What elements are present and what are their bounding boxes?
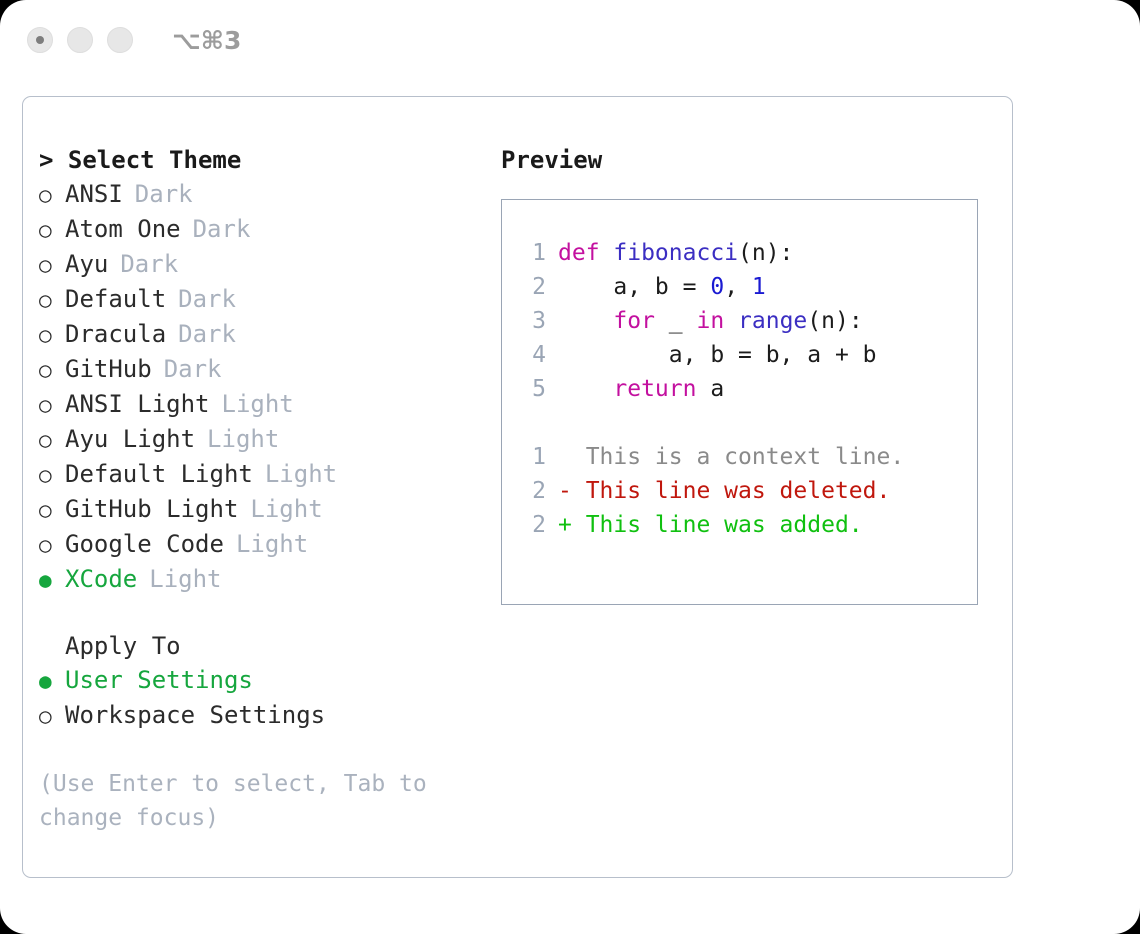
- preview-column: Preview 1def fibonacci(n):2 a, b = 0, 13…: [501, 143, 1001, 605]
- theme-option-default[interactable]: ○DefaultDark: [39, 282, 489, 317]
- theme-option-tag: Dark: [178, 317, 236, 351]
- theme-option-xcode[interactable]: ●XCodeLight: [39, 562, 489, 597]
- window-dot-active[interactable]: [27, 27, 53, 53]
- theme-option-label: Default: [65, 282, 166, 316]
- code-token-kw: in: [696, 308, 724, 334]
- line-number: 2: [516, 508, 546, 542]
- apply-to-heading: Apply To: [39, 629, 489, 663]
- theme-option-label: Dracula: [65, 317, 166, 351]
- code-sample: 1def fibonacci(n):2 a, b = 0, 13 for _ i…: [516, 236, 977, 406]
- line-number: 2: [516, 270, 546, 304]
- diff-text: + This line was added.: [558, 508, 863, 542]
- code-text: for _ in range(n):: [558, 304, 863, 338]
- line-number: 2: [516, 474, 546, 508]
- code-token-fn: fibonacci: [613, 240, 738, 266]
- theme-option-ayu[interactable]: ○AyuDark: [39, 247, 489, 282]
- select-theme-heading: > Select Theme: [39, 143, 489, 177]
- diff-text: This is a context line.: [558, 440, 904, 474]
- theme-option-label: GitHub: [65, 352, 152, 386]
- code-line: 3 for _ in range(n):: [516, 304, 977, 338]
- theme-option-tag: Light: [149, 562, 221, 596]
- radio-unselected-icon: ○: [39, 423, 65, 457]
- code-text: a, b = b, a + b: [558, 338, 877, 372]
- code-token-plain: (n):: [807, 308, 862, 334]
- code-token-plain: [724, 308, 738, 334]
- diff-line-del: 2- This line was deleted.: [516, 474, 977, 508]
- keyboard-shortcut-label: ⌥⌘3: [172, 26, 241, 55]
- radio-unselected-icon: ○: [39, 213, 65, 247]
- radio-unselected-icon: ○: [39, 353, 65, 387]
- theme-option-tag: Light: [250, 492, 322, 526]
- code-token-kw: for: [613, 308, 655, 334]
- code-token-num: 1: [752, 274, 766, 300]
- theme-option-tag: Light: [222, 387, 294, 421]
- code-token-plain: a: [696, 376, 724, 402]
- title-bar: ⌥⌘3: [0, 0, 1140, 80]
- code-token-num: 0: [710, 274, 724, 300]
- code-line: 5 return a: [516, 372, 977, 406]
- radio-unselected-icon: ○: [39, 528, 65, 562]
- radio-unselected-icon: ○: [39, 248, 65, 282]
- theme-option-tag: Dark: [193, 212, 251, 246]
- code-token-plain: (n):: [738, 240, 793, 266]
- theme-option-label: ANSI: [65, 177, 123, 211]
- theme-option-tag: Dark: [135, 177, 193, 211]
- spacer: [39, 597, 489, 629]
- line-number: 4: [516, 338, 546, 372]
- keyboard-hint: (Use Enter to select, Tab to change focu…: [39, 767, 439, 835]
- main-panel: > Select Theme ○ANSIDark○Atom OneDark○Ay…: [22, 96, 1013, 878]
- theme-option-label: Atom One: [65, 212, 181, 246]
- code-token-plain: _: [655, 308, 697, 334]
- theme-option-google-code[interactable]: ○Google CodeLight: [39, 527, 489, 562]
- code-token-kw: def: [558, 240, 613, 266]
- theme-option-ansi-light[interactable]: ○ANSI LightLight: [39, 387, 489, 422]
- radio-unselected-icon: ○: [39, 493, 65, 527]
- theme-picker-column: > Select Theme ○ANSIDark○Atom OneDark○Ay…: [39, 143, 489, 835]
- apply-to-option-workspace-settings[interactable]: ○Workspace Settings: [39, 698, 489, 733]
- code-text: return a: [558, 372, 724, 406]
- code-token-kw: return: [613, 376, 696, 402]
- theme-option-tag: Light: [207, 422, 279, 456]
- preview-heading: Preview: [501, 143, 1001, 177]
- theme-option-tag: Light: [265, 457, 337, 491]
- theme-option-atom-one[interactable]: ○Atom OneDark: [39, 212, 489, 247]
- window-controls: [27, 27, 133, 53]
- line-number: 1: [516, 440, 546, 474]
- code-token-plain: [558, 308, 613, 334]
- diff-line-add: 2+ This line was added.: [516, 508, 977, 542]
- radio-unselected-icon: ○: [39, 318, 65, 352]
- window-dot-third[interactable]: [107, 27, 133, 53]
- apply-to-option-label: User Settings: [65, 663, 253, 697]
- code-text: a, b = 0, 1: [558, 270, 766, 304]
- radio-selected-icon: ●: [39, 563, 65, 597]
- theme-option-tag: Dark: [178, 282, 236, 316]
- radio-unselected-icon: ○: [39, 388, 65, 422]
- code-token-plain: ,: [724, 274, 752, 300]
- code-token-fn: range: [738, 308, 807, 334]
- code-line: 1def fibonacci(n):: [516, 236, 977, 270]
- line-number: 5: [516, 372, 546, 406]
- radio-selected-icon: ●: [39, 664, 65, 698]
- theme-list: ○ANSIDark○Atom OneDark○AyuDark○DefaultDa…: [39, 177, 489, 597]
- theme-option-label: Default Light: [65, 457, 253, 491]
- theme-option-dracula[interactable]: ○DraculaDark: [39, 317, 489, 352]
- theme-option-ansi[interactable]: ○ANSIDark: [39, 177, 489, 212]
- theme-option-default-light[interactable]: ○Default LightLight: [39, 457, 489, 492]
- diff-sample: 1 This is a context line.2- This line wa…: [516, 440, 977, 542]
- diff-line-ctx: 1 This is a context line.: [516, 440, 977, 474]
- line-number: 3: [516, 304, 546, 338]
- apply-to-option-label: Workspace Settings: [65, 698, 325, 732]
- theme-option-tag: Dark: [164, 352, 222, 386]
- code-text: def fibonacci(n):: [558, 236, 793, 270]
- app-window: ⌥⌘3 > Select Theme ○ANSIDark○Atom OneDar…: [0, 0, 1140, 934]
- theme-option-label: Ayu: [65, 247, 108, 281]
- window-dot-active-inner: [36, 36, 44, 44]
- theme-option-tag: Dark: [120, 247, 178, 281]
- theme-option-github[interactable]: ○GitHubDark: [39, 352, 489, 387]
- code-token-plain: a, b =: [558, 274, 710, 300]
- line-number: 1: [516, 236, 546, 270]
- theme-option-ayu-light[interactable]: ○Ayu LightLight: [39, 422, 489, 457]
- theme-option-label: Google Code: [65, 527, 224, 561]
- theme-option-label: XCode: [65, 562, 137, 596]
- radio-unselected-icon: ○: [39, 458, 65, 492]
- spacer: [516, 406, 977, 440]
- theme-option-github-light[interactable]: ○GitHub LightLight: [39, 492, 489, 527]
- theme-option-label: ANSI Light: [65, 387, 210, 421]
- code-token-plain: [558, 376, 613, 402]
- radio-unselected-icon: ○: [39, 178, 65, 212]
- code-line: 4 a, b = b, a + b: [516, 338, 977, 372]
- radio-unselected-icon: ○: [39, 699, 65, 733]
- window-dot-second[interactable]: [67, 27, 93, 53]
- apply-to-list: ●User Settings○Workspace Settings: [39, 663, 489, 733]
- apply-to-option-user-settings[interactable]: ●User Settings: [39, 663, 489, 698]
- code-token-plain: a, b = b, a + b: [558, 342, 877, 368]
- preview-box: 1def fibonacci(n):2 a, b = 0, 13 for _ i…: [501, 199, 978, 605]
- theme-option-tag: Light: [236, 527, 308, 561]
- theme-option-label: Ayu Light: [65, 422, 195, 456]
- code-line: 2 a, b = 0, 1: [516, 270, 977, 304]
- radio-unselected-icon: ○: [39, 283, 65, 317]
- theme-option-label: GitHub Light: [65, 492, 238, 526]
- spacer: [39, 733, 489, 767]
- diff-text: - This line was deleted.: [558, 474, 890, 508]
